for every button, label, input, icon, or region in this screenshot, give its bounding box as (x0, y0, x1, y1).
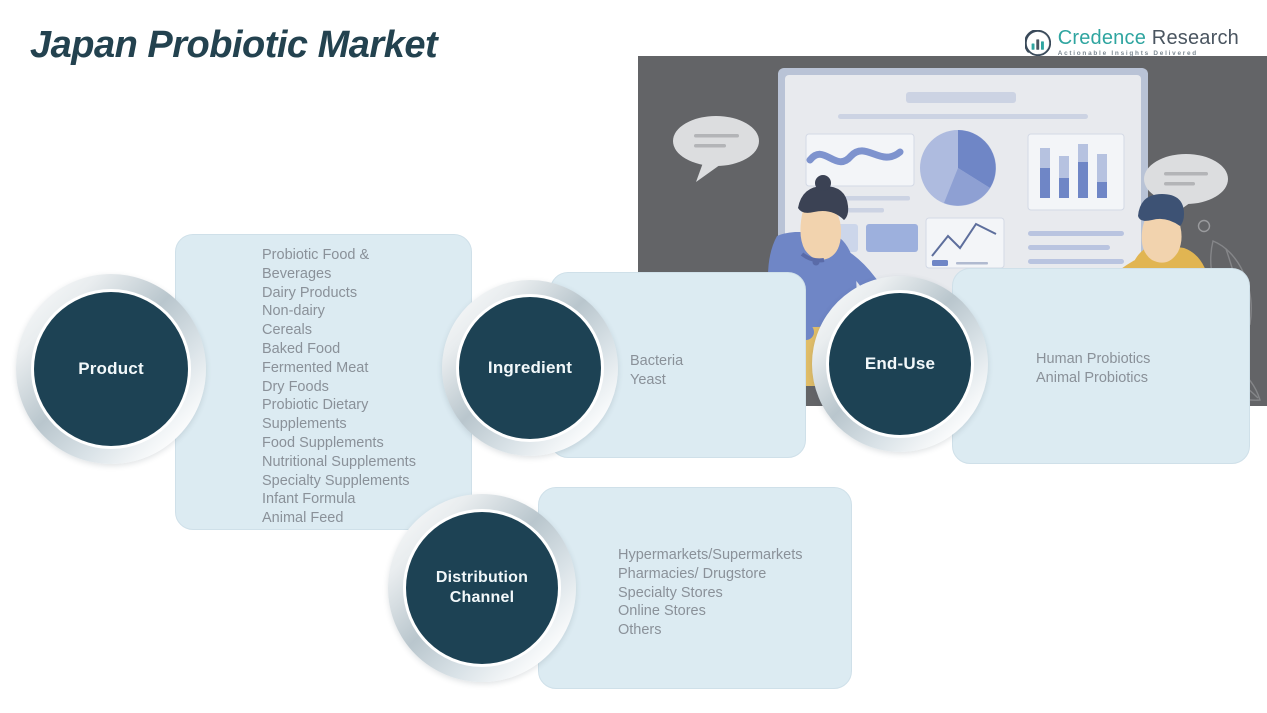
brand-tagline: Actionable Insights Delivered (1058, 51, 1239, 57)
brand-name-part1: Credence (1058, 27, 1146, 49)
segment-node-distribution-channel[interactable]: Distribution Channel (388, 494, 576, 682)
ingredient-item-list: Bacteria Yeast (630, 352, 800, 390)
end-use-item-list: Human Probiotics Animal Probiotics (1036, 350, 1246, 388)
node-label-product: Product (34, 292, 188, 446)
segment-node-ingredient[interactable]: Ingredient (442, 280, 618, 456)
brand-name: Credence Research (1058, 28, 1239, 48)
segment-node-product[interactable]: Product (16, 274, 206, 464)
node-label-distribution-channel: Distribution Channel (406, 512, 558, 664)
brand-name-part2: Research (1152, 27, 1239, 49)
distribution-channel-item-list: Hypermarkets/Supermarkets Pharmacies/ Dr… (618, 546, 858, 640)
brand-text-block: Credence Research Actionable Insights De… (1058, 28, 1239, 57)
node-label-line1: Distribution (436, 569, 528, 586)
infographic-canvas: Japan Probiotic Market (0, 0, 1267, 713)
brand-logo[interactable]: Credence Research Actionable Insights De… (1025, 28, 1239, 57)
node-label-ingredient: Ingredient (459, 297, 601, 439)
node-label-end-use: End-Use (829, 293, 971, 435)
segment-node-end-use[interactable]: End-Use (812, 276, 988, 452)
product-item-list: Probiotic Food & Beverages Dairy Product… (262, 246, 467, 528)
node-label-line2: Channel (450, 589, 515, 606)
page-title: Japan Probiotic Market (30, 24, 437, 67)
bar-chart-circle-icon (1025, 30, 1051, 56)
